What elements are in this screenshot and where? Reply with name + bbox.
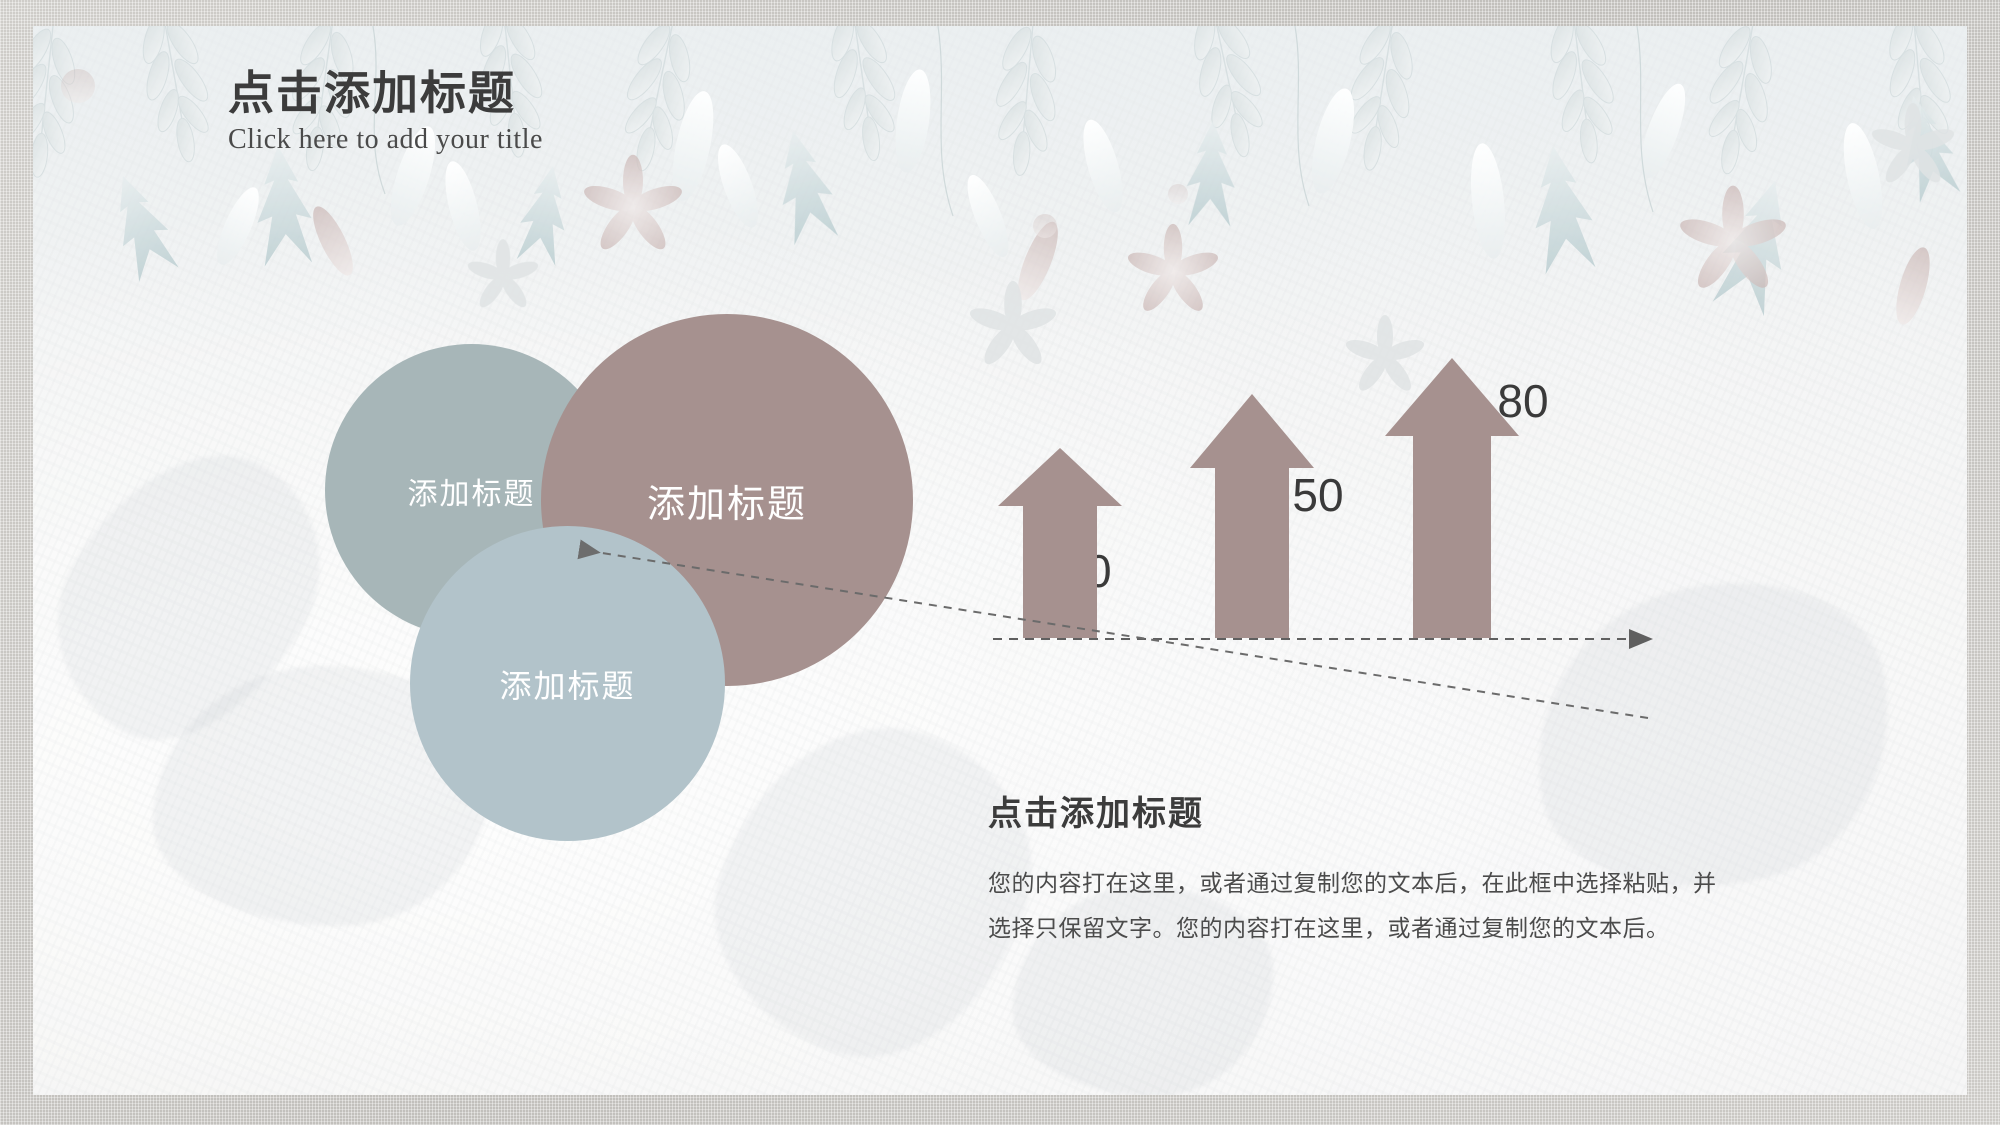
circle-label-mauve: 添加标题 bbox=[647, 473, 807, 528]
dashed-connector-arrow bbox=[553, 536, 1673, 736]
circle-label-sage: 添加标题 bbox=[408, 469, 536, 513]
page-title[interactable]: 点击添加标题 bbox=[228, 66, 543, 120]
slide-content-area: 点击添加标题 Click here to add your title 添加标题… bbox=[33, 26, 1967, 1095]
content-paragraph[interactable]: 您的内容打在这里，或者通过复制您的文本后，在此框中选择粘贴，并选择只保留文字。您… bbox=[988, 861, 1728, 951]
slide-canvas: 点击添加标题 Click here to add your title 添加标题… bbox=[0, 0, 2000, 1125]
content-block: 点击添加标题 您的内容打在这里，或者通过复制您的文本后，在此框中选择粘贴，并选择… bbox=[988, 786, 1728, 951]
page-subtitle[interactable]: Click here to add your title bbox=[228, 124, 543, 156]
title-block: 点击添加标题 Click here to add your title bbox=[228, 66, 543, 156]
content-heading[interactable]: 点击添加标题 bbox=[988, 786, 1728, 835]
